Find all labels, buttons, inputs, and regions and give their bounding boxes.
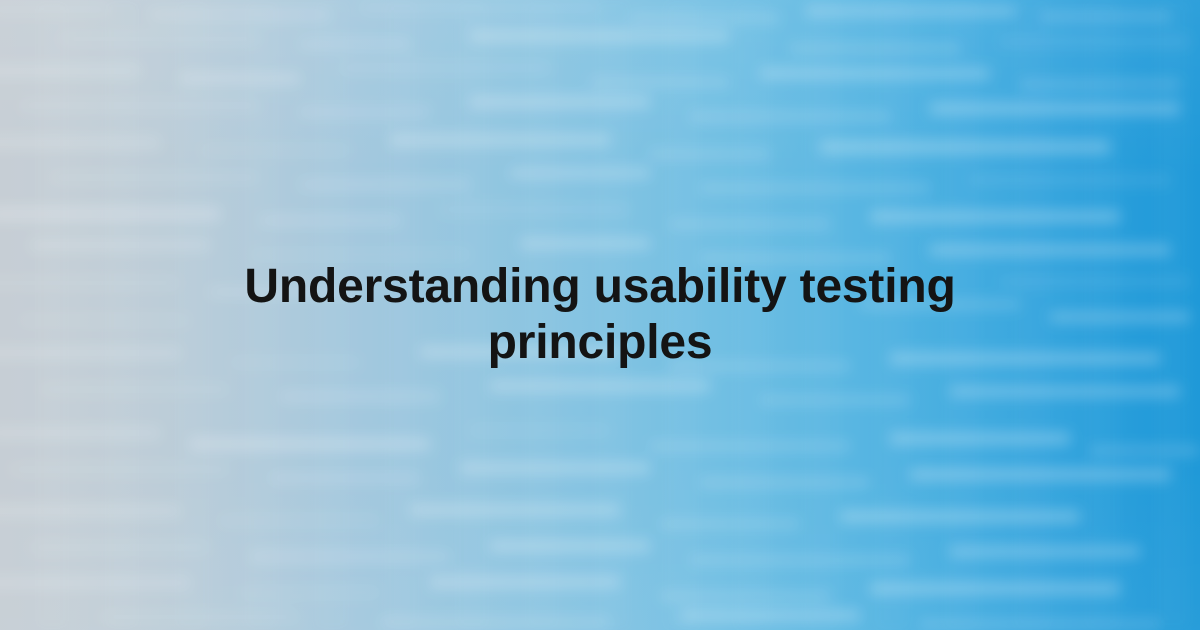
hero-banner: Understanding usability testing principl…: [0, 0, 1200, 630]
page-title: Understanding usability testing principl…: [200, 259, 1000, 371]
